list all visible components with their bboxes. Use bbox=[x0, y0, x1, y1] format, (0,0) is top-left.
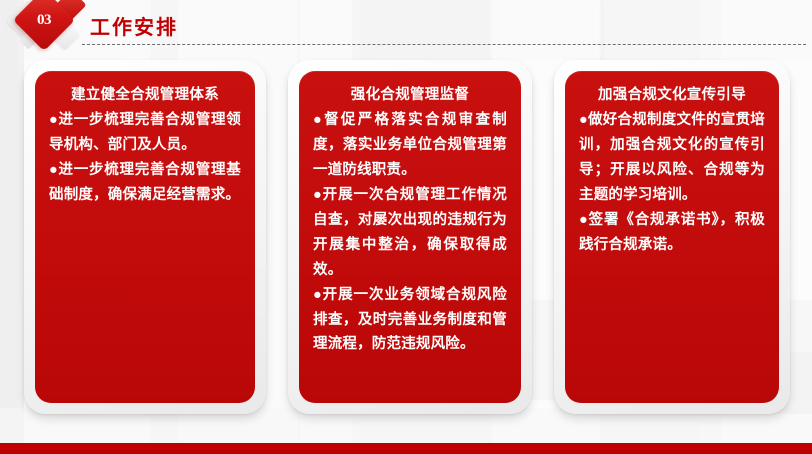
card-paragraph: ●督促严格落实合规审查制度，落实业务单位合规管理第一道防线职责。 bbox=[313, 108, 507, 183]
card-group: 建立健全合规管理体系 ●进一步梳理完善合规管理领导机构、部门及人员。 ●进一步梳… bbox=[0, 0, 812, 454]
card-paragraph: ●开展一次合规管理工作情况自查，对屡次出现的违规行为开展集中整治，确保取得成效。 bbox=[313, 183, 507, 283]
card-body: ●进一步梳理完善合规管理领导机构、部门及人员。 ●进一步梳理完善合规管理基础制度… bbox=[49, 108, 241, 208]
card-title: 强化合规管理监督 bbox=[313, 85, 507, 106]
card-paragraph: ●签署《合规承诺书》，积极践行合规承诺。 bbox=[579, 208, 765, 258]
card-title: 加强合规文化宣传引导 bbox=[579, 85, 765, 106]
card-paragraph: ●进一步梳理完善合规管理基础制度，确保满足经营需求。 bbox=[49, 158, 241, 208]
card-paragraph: ●开展一次业务领域合规风险排查，及时完善业务制度和管理流程，防范违规风险。 bbox=[313, 283, 507, 358]
card-body: ●督促严格落实合规审查制度，落实业务单位合规管理第一道防线职责。 ●开展一次合规… bbox=[313, 108, 507, 357]
card-paragraph: ●进一步梳理完善合规管理领导机构、部门及人员。 bbox=[49, 108, 241, 158]
card-inner-panel: 强化合规管理监督 ●督促严格落实合规审查制度，落实业务单位合规管理第一道防线职责… bbox=[299, 71, 521, 403]
card-body: ●做好合规制度文件的宣贯培训，加强合规文化的宣传引导；开展以风险、合规等为主题的… bbox=[579, 108, 765, 258]
card-inner-panel: 加强合规文化宣传引导 ●做好合规制度文件的宣贯培训，加强合规文化的宣传引导；开展… bbox=[565, 71, 779, 403]
content-card[interactable]: 加强合规文化宣传引导 ●做好合规制度文件的宣贯培训，加强合规文化的宣传引导；开展… bbox=[554, 60, 790, 414]
card-paragraph: ●做好合规制度文件的宣贯培训，加强合规文化的宣传引导；开展以风险、合规等为主题的… bbox=[579, 108, 765, 208]
content-card[interactable]: 建立健全合规管理体系 ●进一步梳理完善合规管理领导机构、部门及人员。 ●进一步梳… bbox=[24, 60, 266, 414]
slide-canvas: 03 工作安排 建立健全合规管理体系 ●进一步梳理完善合规管理领导机构、部门及人… bbox=[0, 0, 812, 454]
content-card[interactable]: 强化合规管理监督 ●督促严格落实合规审查制度，落实业务单位合规管理第一道防线职责… bbox=[288, 60, 532, 414]
footer-accent-bar bbox=[0, 443, 812, 454]
card-inner-panel: 建立健全合规管理体系 ●进一步梳理完善合规管理领导机构、部门及人员。 ●进一步梳… bbox=[35, 71, 255, 403]
card-title: 建立健全合规管理体系 bbox=[49, 85, 241, 106]
